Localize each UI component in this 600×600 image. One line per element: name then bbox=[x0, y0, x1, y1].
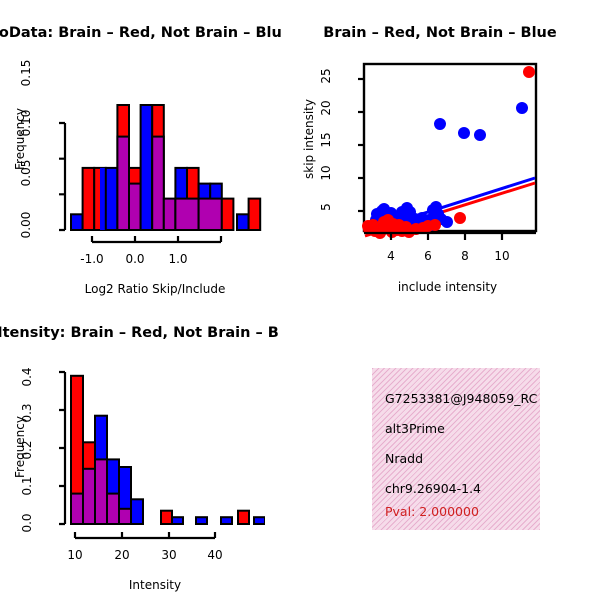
info-line-locus: chr9.26904-1.4 bbox=[385, 481, 481, 496]
scatter-title: Brain – Red, Not Brain – Blue bbox=[300, 25, 580, 41]
info-line-pval: Pval: 2.000000 bbox=[385, 504, 479, 519]
ratio-ytick-2: 0.10 bbox=[19, 106, 33, 140]
ratio-ytick-1: 0.05 bbox=[19, 156, 33, 190]
intensity-histogram-plot bbox=[45, 360, 265, 535]
intensity-xtick-3: 40 bbox=[191, 548, 239, 562]
ratio-xtick-2: 1.0 bbox=[154, 252, 202, 266]
ratio-xaxis bbox=[45, 234, 265, 250]
scatter-ytick-4: 25 bbox=[319, 61, 333, 91]
ratio-ytick-3: 0.15 bbox=[19, 56, 33, 90]
scatter-xlabel: include intensity bbox=[340, 280, 555, 294]
intensity-histogram-xlabel: Intensity bbox=[45, 578, 265, 592]
intensity-histogram-title: ne Itensity: Brain – Red, Not Brain – B bbox=[0, 325, 279, 341]
scatter-ytick-1: 10 bbox=[319, 158, 333, 188]
ratio-histogram-plot bbox=[45, 58, 265, 238]
scatter-xaxis bbox=[340, 231, 555, 245]
intensity-ytick-1: 0.1 bbox=[20, 472, 34, 500]
intensity-ytick-3: 0.3 bbox=[20, 399, 34, 427]
intensity-xtick-2: 30 bbox=[145, 548, 193, 562]
scatter-plot bbox=[340, 58, 555, 240]
intensity-xaxis bbox=[45, 530, 270, 546]
intensity-ytick-4: 0.4 bbox=[20, 363, 34, 391]
ratio-xtick-1: 0.0 bbox=[111, 252, 159, 266]
ratio-ytick-0: 0.00 bbox=[19, 208, 33, 242]
info-line-gene: Nradd bbox=[385, 451, 423, 466]
ratio-histogram-title: RatioData: Brain – Red, Not Brain – Blu bbox=[0, 25, 282, 41]
ratio-bars bbox=[71, 105, 260, 230]
scatter-ylabel: skip intensity bbox=[302, 99, 316, 179]
intensity-ytick-0: 0.0 bbox=[20, 509, 34, 537]
scatter-ytick-3: 20 bbox=[319, 93, 333, 123]
intensity-ytick-2: 0.2 bbox=[20, 436, 34, 464]
scatter-xtick-3: 10 bbox=[478, 249, 526, 263]
ratio-histogram-xlabel: Log2 Ratio Skip/Include bbox=[45, 282, 265, 296]
info-line-event-type: alt3Prime bbox=[385, 421, 445, 436]
scatter-ytick-2: 15 bbox=[319, 125, 333, 155]
intensity-bars bbox=[71, 376, 265, 524]
info-line-event-id: G7253381@J948059_RC bbox=[385, 391, 537, 406]
intensity-xtick-1: 20 bbox=[98, 548, 146, 562]
intensity-xtick-0: 10 bbox=[51, 548, 99, 562]
event-info-box: G7253381@J948059_RC alt3Prime Nradd chr9… bbox=[372, 368, 540, 530]
ratio-xtick-0: -1.0 bbox=[68, 252, 116, 266]
scatter-ytick-0: 5 bbox=[319, 192, 333, 222]
